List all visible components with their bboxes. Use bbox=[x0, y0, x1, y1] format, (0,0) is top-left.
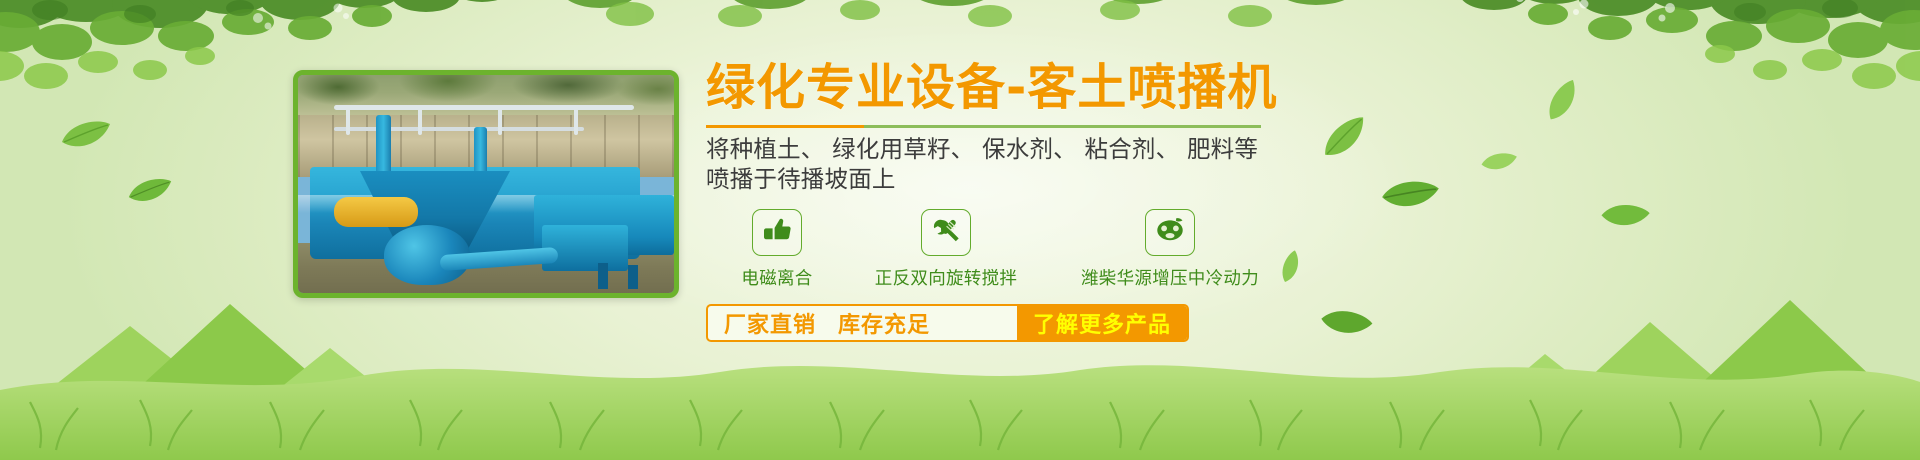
feature-icon-box-1 bbox=[752, 209, 802, 256]
product-photo[interactable] bbox=[293, 70, 679, 298]
feature-label-2: 正反双向旋转搅拌 bbox=[875, 265, 1017, 290]
feature-item-3[interactable]: 潍柴华源增压中冷动力 bbox=[1044, 209, 1296, 290]
floating-leaf-2 bbox=[126, 176, 174, 206]
subtitle-line-1: 将种植土、 绿化用草籽、 保水剂、 粘合剂、 肥料等 bbox=[706, 135, 1706, 165]
page-title: 绿化专业设备-客土喷播机 bbox=[706, 62, 1706, 115]
cta-bar: 厂家直销 库存充足 了解更多产品 bbox=[706, 304, 1189, 342]
feature-item-1[interactable]: 电磁离合 bbox=[706, 209, 848, 290]
banner-subtitle: 将种植土、 绿化用草籽、 保水剂、 粘合剂、 肥料等 喷播于待播坡面上 bbox=[706, 135, 1706, 195]
engine-gear-icon bbox=[1154, 217, 1186, 247]
cta-slogan-1: 厂家直销 bbox=[724, 307, 816, 339]
banner-content: 绿化专业设备-客土喷播机 将种植土、 绿化用草籽、 保水剂、 粘合剂、 肥料等 … bbox=[706, 62, 1706, 342]
feature-item-2[interactable]: 正反双向旋转搅拌 bbox=[848, 209, 1044, 290]
cta-slogan-2: 库存充足 bbox=[838, 307, 930, 339]
feature-list: 电磁离合 正反双向旋转搅拌 bbox=[706, 209, 1706, 290]
subtitle-line-2: 喷播于待播坡面上 bbox=[706, 165, 1706, 195]
feature-icon-box-3 bbox=[1145, 209, 1195, 256]
learn-more-button[interactable]: 了解更多产品 bbox=[1017, 306, 1187, 340]
feature-label-3: 潍柴华源增压中冷动力 bbox=[1081, 265, 1259, 290]
feature-icon-box-2 bbox=[921, 209, 971, 256]
wrench-tools-icon bbox=[931, 217, 961, 247]
promo-banner: 绿化专业设备-客土喷播机 将种植土、 绿化用草籽、 保水剂、 粘合剂、 肥料等 … bbox=[0, 0, 1920, 460]
cta-slogans: 厂家直销 库存充足 bbox=[708, 306, 1017, 340]
feature-label-1: 电磁离合 bbox=[741, 265, 812, 290]
floating-leaf-1 bbox=[60, 118, 112, 152]
thumbs-up-icon bbox=[762, 218, 792, 246]
title-divider bbox=[706, 125, 1261, 128]
grass-decoration bbox=[0, 330, 1920, 460]
